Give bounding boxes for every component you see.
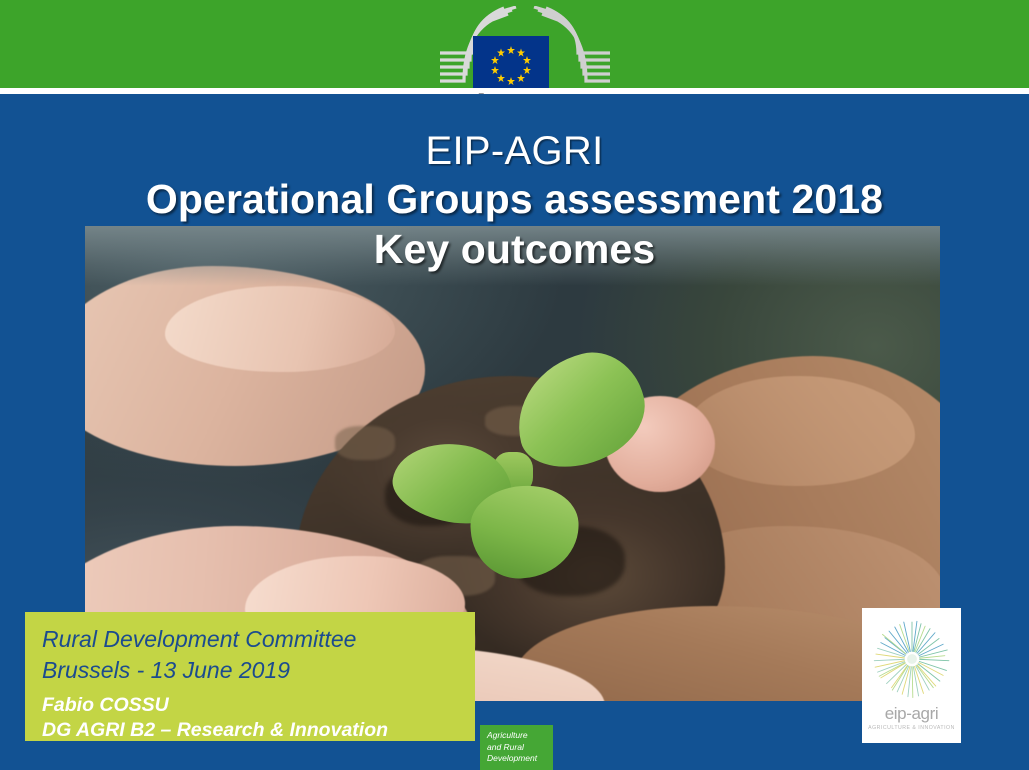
agri-line-3: Development bbox=[487, 753, 553, 765]
presentation-slide: European Commission bbox=[0, 0, 1029, 770]
eip-agri-tagline: AGRICULTURE & INNOVATION bbox=[862, 725, 961, 731]
page-title-line2: Operational Groups assessment 2018 bbox=[0, 174, 1029, 224]
event-name: Rural Development Committee bbox=[42, 624, 475, 655]
seedling-plant bbox=[385, 356, 685, 586]
eu-flag-icon bbox=[473, 36, 549, 88]
page-title-line3: Key outcomes bbox=[0, 224, 1029, 274]
finger-right-1 bbox=[685, 376, 915, 486]
event-location-date: Brussels - 13 June 2019 bbox=[42, 655, 475, 686]
eu-stars-icon bbox=[473, 36, 549, 88]
page-title-line1: EIP-AGRI bbox=[0, 128, 1029, 174]
speaker-department: DG AGRI B2 – Research & Innovation bbox=[42, 718, 475, 743]
speaker-name: Fabio COSSU bbox=[42, 693, 475, 718]
agri-line-2: and Rural bbox=[487, 742, 553, 754]
eip-agri-wordmark: eip-agri bbox=[862, 704, 961, 724]
agriculture-rural-development-box: Agriculture and Rural Development bbox=[480, 725, 553, 770]
event-info-box: Rural Development Committee Brussels - 1… bbox=[25, 612, 475, 741]
slide-title-block: EIP-AGRI Operational Groups assessment 2… bbox=[0, 128, 1029, 274]
agri-line-1: Agriculture bbox=[487, 730, 553, 742]
eip-agri-burst-icon bbox=[871, 618, 953, 700]
finger-top-left bbox=[165, 286, 395, 372]
eip-agri-logo: eip-agri AGRICULTURE & INNOVATION bbox=[862, 608, 961, 743]
